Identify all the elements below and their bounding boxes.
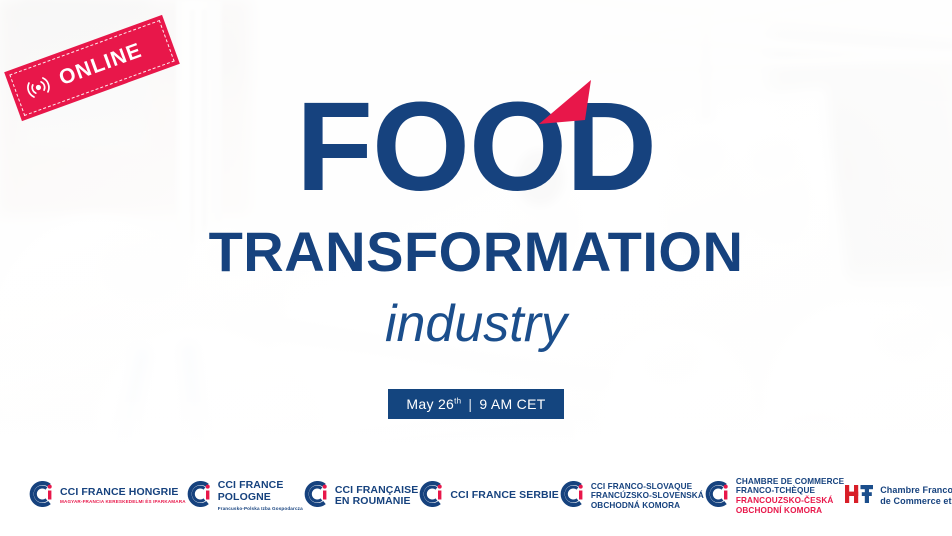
- partner-logo-chambre-franco-tcheque: CHAMBRE DE COMMERCE FRANCO-TCHÈQUE FRANC…: [704, 477, 844, 515]
- partner-name-line2: FRANCÚZSKO-SLOVENSKÁ: [591, 491, 704, 501]
- title-food: FOOD: [0, 84, 952, 210]
- cci-logo-mark-icon: [559, 481, 585, 512]
- partner-logo-cci-france-serbie: CCI FRANCE SERBIE: [418, 481, 558, 512]
- partner-name-line2: de Commerce et d'Industrie: [880, 496, 952, 507]
- partner-subtitle: MAGYAR-FRANCIA KERESKEDELMI ÉS IPARKAMAR…: [60, 499, 186, 505]
- cci-logo-mark-icon: [303, 481, 329, 512]
- partner-name-line1: CHAMBRE DE COMMERCE: [736, 477, 844, 487]
- partner-name-line1: CCI FRANCE: [218, 480, 303, 492]
- partner-name-line1: Chambre Franco-Croate: [880, 485, 952, 496]
- partner-logo-chambre-franco-croate: Chambre Franco-Croate de Commerce et d'I…: [844, 482, 952, 511]
- partner-name-line2: FRANCO-TCHÈQUE: [736, 486, 844, 496]
- cci-logo-mark-icon: [704, 481, 730, 512]
- event-date: May 26th: [406, 396, 461, 412]
- cci-logo-mark-icon: [418, 481, 444, 512]
- event-poster: ONLINE FOOD TRANSFORMATION industry May …: [0, 0, 952, 536]
- partner-subtitle-line1: FRANCOUZSKO-ČESKÁ: [736, 496, 844, 506]
- partner-name-line2: EN ROUMANIE: [335, 496, 419, 508]
- partner-logo-bar: CCI FRANCE HONGRIE MAGYAR-FRANCIA KERESK…: [0, 456, 952, 536]
- title-transformation: TRANSFORMATION: [0, 224, 952, 280]
- partner-name-line2: POLOGNE: [218, 492, 303, 504]
- partner-logo-cci-francaise-en-roumanie: CCI FRANÇAISE EN ROUMANIE: [303, 481, 419, 512]
- hf-monogram-logo-icon: [844, 482, 874, 511]
- cci-logo-mark-icon: [28, 481, 54, 512]
- cci-logo-mark-icon: [186, 481, 212, 512]
- partner-name: CCI FRANCE HONGRIE: [60, 487, 186, 499]
- event-time: 9 AM CET: [479, 396, 545, 412]
- partner-subtitle: Francusko-Polska Izba Gospodarcza: [218, 506, 303, 512]
- badge-separator: |: [468, 396, 472, 412]
- partner-name: CCI FRANCE SERBIE: [450, 490, 558, 502]
- partner-name-line1: CCI FRANCO-SLOVAQUE: [591, 482, 704, 492]
- partner-name-line3: OBCHODNÁ KOMORA: [591, 501, 704, 511]
- partner-logo-cci-france-hongrie: CCI FRANCE HONGRIE MAGYAR-FRANCIA KERESK…: [28, 481, 186, 512]
- partner-subtitle-line2: OBCHODNÍ KOMORA: [736, 506, 844, 516]
- partner-logo-cci-france-pologne: CCI FRANCE POLOGNE Francusko-Polska Izba…: [186, 480, 303, 512]
- date-time-badge: May 26th | 9 AM CET: [388, 389, 564, 419]
- title-industry: industry: [0, 296, 952, 352]
- partner-logo-cci-franco-slovaque: CCI FRANCO-SLOVAQUE FRANCÚZSKO-SLOVENSKÁ…: [559, 481, 704, 512]
